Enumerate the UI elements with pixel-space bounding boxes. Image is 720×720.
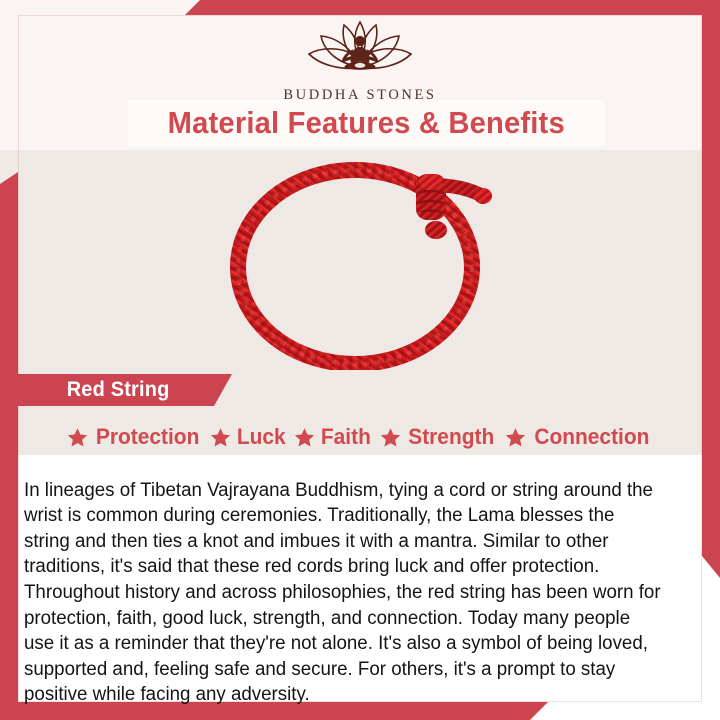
star-icon	[210, 427, 231, 448]
benefit-item-connection: Connection	[505, 426, 654, 449]
benefit-label: Faith	[321, 426, 371, 449]
benefit-label: Connection	[534, 426, 649, 449]
product-label-ribbon: Red String	[0, 374, 232, 406]
benefit-item-faith: Faith	[294, 426, 373, 449]
description-paragraph: In lineages of Tibetan Vajrayana Buddhis…	[24, 478, 664, 708]
star-icon	[67, 427, 88, 448]
page-title: Material Features & Benefits	[168, 105, 565, 141]
product-image-red-string-bracelet	[215, 152, 515, 370]
infographic-page: BUDDHA STONES Material Features & Benefi…	[0, 0, 720, 720]
frame-bar-left	[0, 172, 18, 720]
page-title-banner: Material Features & Benefits	[128, 100, 605, 146]
benefit-item-strength: Strength	[380, 426, 498, 449]
benefit-item-protection: Protection	[67, 426, 203, 449]
benefit-label: Strength	[408, 426, 494, 449]
star-icon	[505, 427, 526, 448]
lotus-meditation-icon	[0, 18, 720, 85]
star-icon	[380, 427, 401, 448]
benefit-label: Luck	[237, 426, 286, 449]
benefit-item-luck: Luck	[210, 426, 288, 449]
product-label-text: Red String	[67, 378, 170, 402]
benefit-label: Protection	[96, 426, 199, 449]
benefits-list: Protection Luck Faith S	[18, 420, 702, 454]
brand-logo: BUDDHA STONES	[0, 18, 720, 104]
star-icon	[294, 427, 315, 448]
